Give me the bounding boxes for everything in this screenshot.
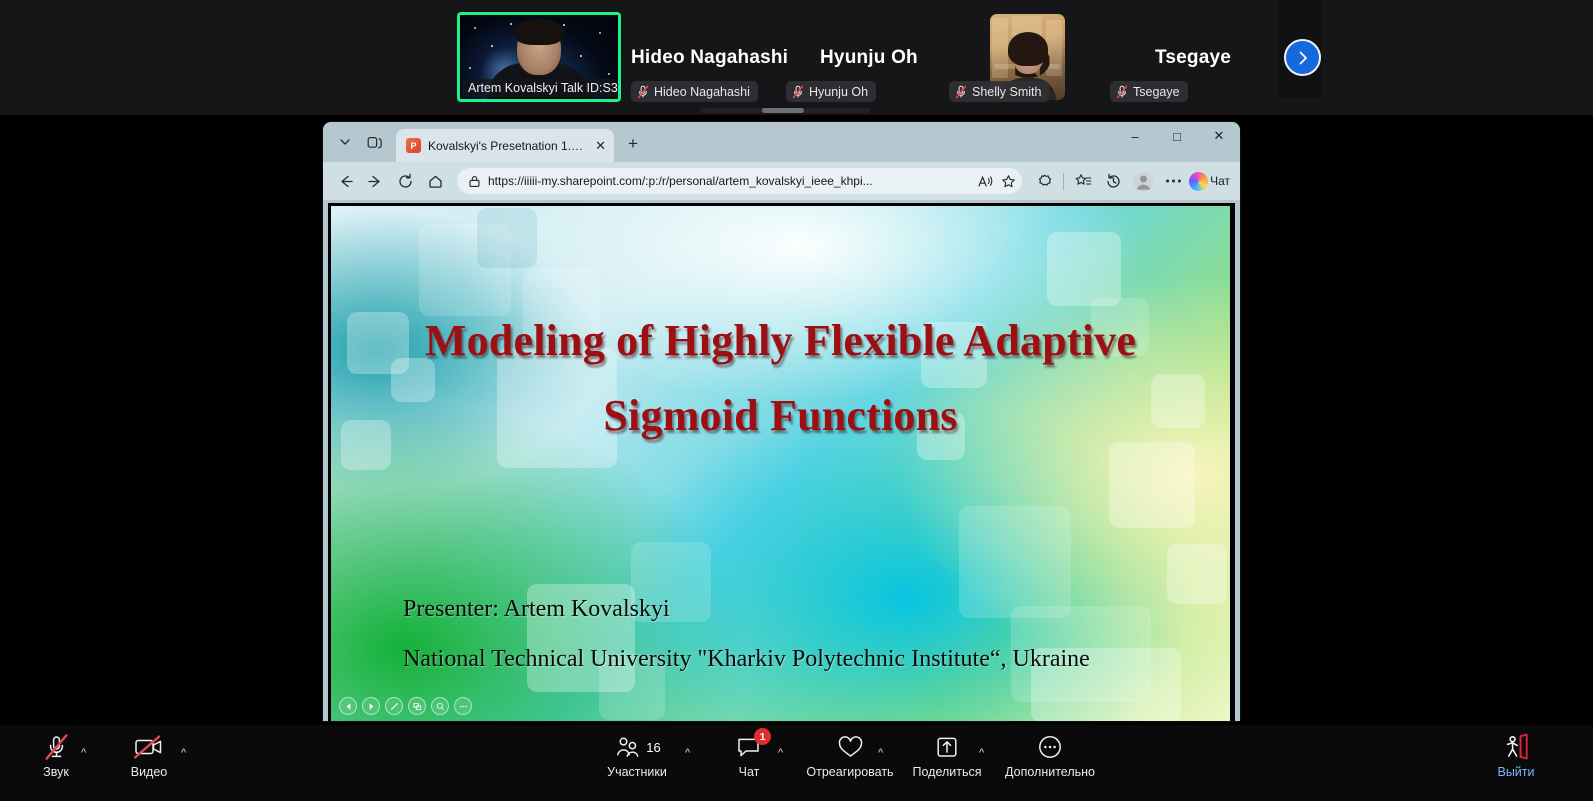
close-icon[interactable]: ✕ (593, 138, 608, 154)
participants-icon (613, 736, 641, 758)
participants-label: Участники (607, 765, 667, 779)
participant-badge-name: Hideo Nagahashi (654, 85, 750, 99)
video-button[interactable]: Видео (118, 731, 180, 779)
pen-icon (390, 702, 399, 711)
new-tab-button[interactable]: + (620, 130, 646, 158)
react-label: Отреагировать (806, 765, 893, 779)
mic-muted-icon (637, 85, 649, 99)
leave-door-icon (1501, 731, 1531, 763)
next-slide-button[interactable] (362, 697, 380, 715)
participant-badge-shelly[interactable]: Shelly Smith (949, 81, 1049, 102)
grid-icon (413, 702, 422, 711)
zoom-tool-button[interactable] (431, 697, 449, 715)
microphone-muted-icon (43, 731, 70, 763)
back-arrow-icon[interactable] (331, 167, 359, 195)
star-icon[interactable] (1001, 174, 1016, 189)
slide-affiliation-line: National Technical University "Kharkiv P… (403, 644, 1123, 676)
participant-badge-tsegaye[interactable]: Tsegaye (1110, 81, 1188, 102)
meeting-app-window: Artem Kovalskyi Talk ID:S3... Hideo Naga… (0, 0, 1593, 801)
site-info-icon (468, 175, 481, 188)
slide-title-line2: Sigmoid Functions (383, 379, 1178, 454)
copilot-label[interactable]: Чат (1210, 174, 1230, 188)
leave-label: Выйти (1497, 765, 1534, 779)
profile-avatar-icon[interactable] (1129, 167, 1157, 195)
audio-options-caret[interactable]: ^ (81, 747, 86, 759)
participants-button[interactable]: 16 Участники (601, 731, 673, 779)
chevron-right-icon (1295, 50, 1311, 66)
split-screen-glyph (367, 135, 383, 150)
slide-title-line1: Modeling of Highly Flexible Adaptive (383, 304, 1178, 379)
participant-bigname-hideo: Hideo Nagahashi (631, 47, 788, 69)
window-controls: – □ ✕ (1114, 122, 1240, 162)
avatar-glasses (1015, 49, 1041, 57)
browser-tab[interactable]: P Kovalskyi's Presetnation 1.pptx ✕ (396, 129, 614, 162)
close-window-button[interactable]: ✕ (1198, 122, 1240, 150)
favorites-list-icon[interactable] (1069, 167, 1097, 195)
prev-slide-button[interactable] (339, 697, 357, 715)
participants-count: 16 (646, 740, 660, 755)
participant-bigname-hyunju: Hyunju Oh (820, 47, 918, 69)
participant-badge-name: Hyunju Oh (809, 85, 868, 99)
slide-presenter-line: Presenter: Artem Kovalskyi (403, 594, 1103, 626)
participant-badge-name: Shelly Smith (972, 85, 1041, 99)
pen-tool-button[interactable] (385, 697, 403, 715)
react-button[interactable]: Отреагировать (801, 731, 899, 779)
presentation-controls (339, 697, 472, 715)
mic-muted-icon (1116, 85, 1128, 99)
chat-unread-badge: 1 (754, 728, 771, 745)
minimize-button[interactable]: – (1114, 122, 1156, 150)
browser-window: P Kovalskyi's Presetnation 1.pptx ✕ + – … (323, 122, 1240, 721)
share-options-caret[interactable]: ^ (979, 747, 984, 759)
participants-options-caret[interactable]: ^ (685, 747, 690, 759)
leave-button[interactable]: Выйти (1485, 731, 1547, 779)
filmstrip-scrollbar-handle[interactable] (762, 108, 804, 113)
slide-more-options-button[interactable] (454, 697, 472, 715)
prev-triangle-icon (344, 702, 353, 711)
more-button[interactable]: Дополнительно (1000, 731, 1100, 779)
share-label: Поделиться (912, 765, 981, 779)
chat-label: Чат (739, 765, 760, 779)
chevron-down-icon (338, 135, 352, 149)
participants-icon-wrap: 16 (613, 731, 660, 763)
maximize-button[interactable]: □ (1156, 122, 1198, 150)
powerpoint-icon: P (406, 138, 421, 153)
camera-muted-icon (133, 731, 165, 763)
video-options-caret[interactable]: ^ (181, 747, 186, 759)
read-aloud-icon[interactable] (977, 174, 994, 189)
reload-icon[interactable] (391, 167, 419, 195)
tab-actions-menu-icon[interactable] (332, 129, 358, 155)
address-bar-url: https://iiiii-my.sharepoint.com/:p:/r/pe… (488, 174, 970, 188)
participant-badge-hideo[interactable]: Hideo Nagahashi (631, 81, 758, 102)
ellipsis-circle-icon (1037, 731, 1063, 763)
chat-options-caret[interactable]: ^ (778, 747, 783, 759)
address-bar[interactable]: https://iiiii-my.sharepoint.com/:p:/r/pe… (457, 168, 1022, 194)
chat-button[interactable]: 1 Чат (724, 731, 774, 779)
presentation-slide[interactable]: Modeling of Highly Flexible Adaptive Sig… (331, 206, 1230, 721)
participant-badge-name: Tsegaye (1133, 85, 1180, 99)
slide-title: Modeling of Highly Flexible Adaptive Sig… (383, 304, 1178, 454)
mic-muted-icon (792, 85, 804, 99)
browser-tab-title: Kovalskyi's Presetnation 1.pptx (428, 139, 586, 153)
history-icon[interactable] (1099, 167, 1127, 195)
all-slides-button[interactable] (408, 697, 426, 715)
chat-icon-wrap: 1 (736, 731, 762, 763)
share-screen-icon (934, 731, 960, 763)
participant-tile-self[interactable]: Artem Kovalskyi Talk ID:S3... (457, 12, 621, 102)
participant-name-label: Artem Kovalskyi Talk ID:S3... (462, 79, 618, 97)
toolbar-divider (1063, 173, 1064, 190)
more-options-icon[interactable] (1159, 167, 1187, 195)
video-label: Видео (131, 765, 168, 779)
magnifier-icon (436, 702, 445, 711)
heart-icon (837, 731, 864, 763)
more-label: Дополнительно (1005, 765, 1095, 779)
browser-tabstrip: P Kovalskyi's Presetnation 1.pptx ✕ + – … (323, 122, 1240, 162)
avatar-hair (514, 19, 564, 45)
meeting-controls-toolbar: Звук ^ Видео ^ (0, 725, 1593, 801)
home-icon[interactable] (421, 167, 449, 195)
participant-badge-hyunju[interactable]: Hyunju Oh (786, 81, 876, 102)
filmstrip-next-page-button[interactable] (1284, 39, 1321, 76)
mic-muted-icon (955, 85, 967, 99)
audio-button[interactable]: Звук (26, 731, 86, 779)
browser-navigation-bar: https://iiiii-my.sharepoint.com/:p:/r/pe… (323, 162, 1240, 200)
participants-filmstrip: Artem Kovalskyi Talk ID:S3... Hideo Naga… (0, 0, 1593, 115)
next-triangle-icon (367, 702, 376, 711)
browser-essentials-icon[interactable] (1030, 167, 1058, 195)
participant-bigname-tsegaye: Tsegaye (1155, 47, 1231, 69)
presentation-viewport: Modeling of Highly Flexible Adaptive Sig… (328, 203, 1235, 721)
split-screen-icon[interactable] (362, 129, 388, 155)
audio-label: Звук (43, 765, 69, 779)
ellipsis-icon (459, 702, 468, 711)
share-button[interactable]: Поделиться (903, 731, 991, 779)
react-options-caret[interactable]: ^ (878, 747, 883, 759)
forward-arrow-icon[interactable] (361, 167, 389, 195)
copilot-icon[interactable] (1189, 172, 1208, 191)
